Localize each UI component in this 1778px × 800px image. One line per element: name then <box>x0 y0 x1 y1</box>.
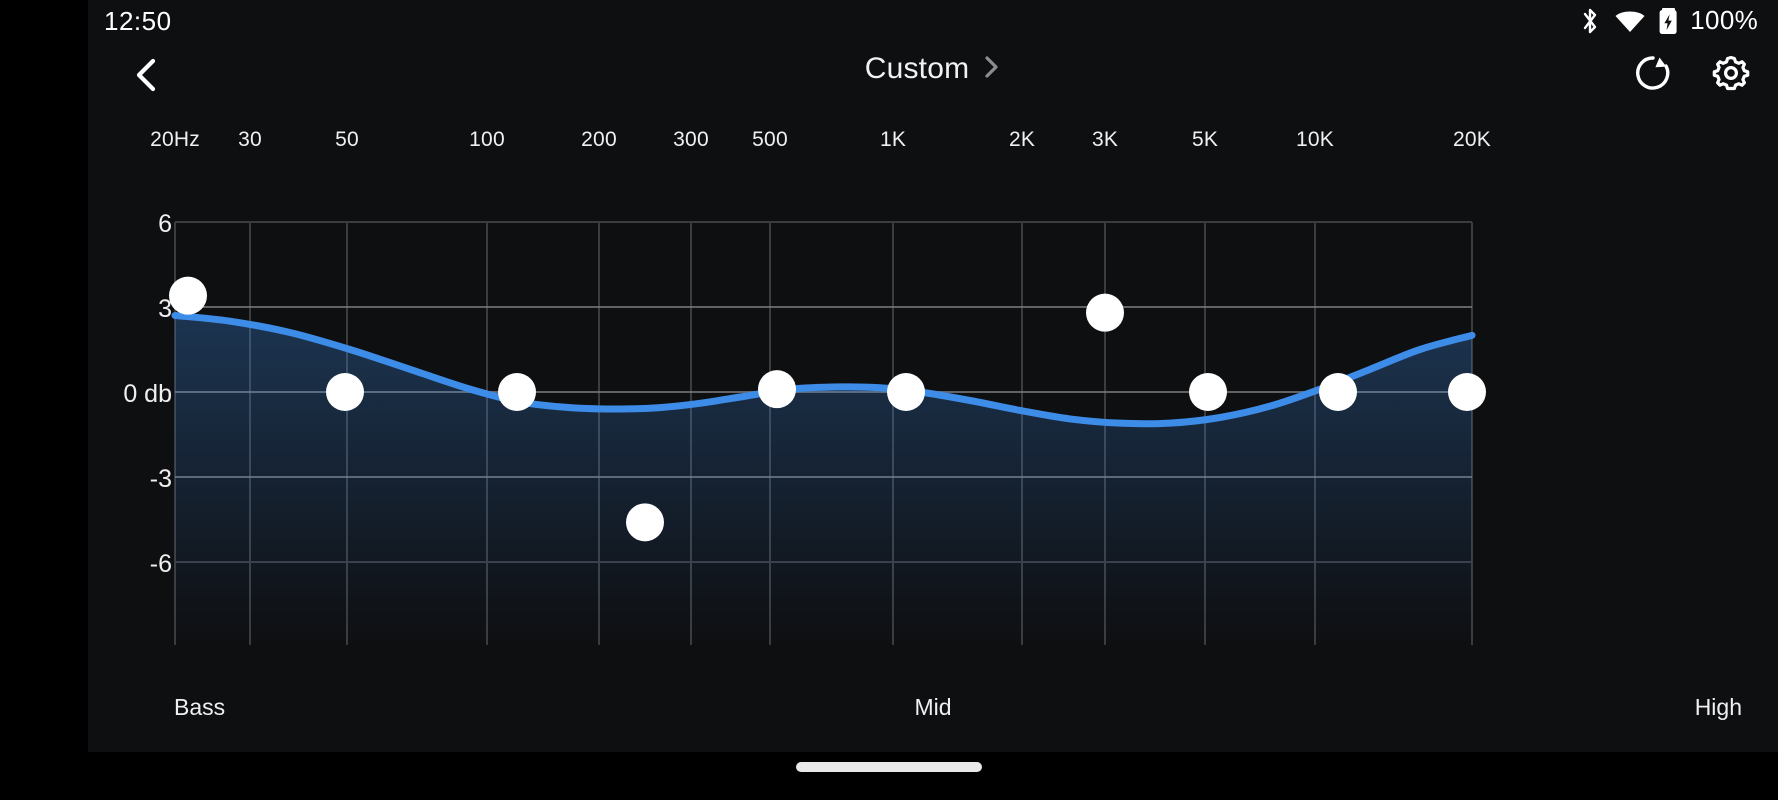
gain-tick-2: 0 db <box>123 380 172 408</box>
status-time: 12:50 <box>104 6 172 37</box>
nav-actions <box>1630 50 1754 96</box>
battery-percent: 100% <box>1690 5 1758 36</box>
home-indicator[interactable] <box>796 762 982 772</box>
eq-node-3k[interactable] <box>1086 294 1124 332</box>
eq-node-500[interactable] <box>758 370 796 408</box>
reset-button[interactable] <box>1630 50 1676 96</box>
screen-root: 12:50 <box>0 0 1778 800</box>
gain-tick-3: -3 <box>150 465 172 493</box>
band-label-mid: Mid <box>914 694 951 721</box>
eq-node-20hz[interactable] <box>169 277 207 315</box>
gain-tick-4: -6 <box>150 550 172 578</box>
equalizer-plot[interactable]: 630 db-3-6 <box>88 106 1778 752</box>
equalizer: 20Hz30501002003005001K2K3K5K10K20K 630 d… <box>88 106 1778 752</box>
chevron-right-icon <box>983 53 1001 86</box>
preset-selector[interactable]: Custom <box>88 52 1778 86</box>
band-label-bass: Bass <box>174 694 225 721</box>
app-panel: 12:50 <box>88 0 1778 752</box>
settings-button[interactable] <box>1708 50 1754 96</box>
status-bar: 12:50 <box>88 0 1778 44</box>
bluetooth-icon <box>1578 6 1602 36</box>
band-label-high: High <box>1695 694 1742 721</box>
nav-bar: Custom <box>88 44 1778 106</box>
battery-charging-icon <box>1658 6 1678 36</box>
gain-axis: 630 db-3-6 <box>123 210 172 578</box>
gear-icon <box>1708 50 1754 96</box>
band-axis: Bass Mid High <box>88 694 1778 724</box>
eq-node-1k[interactable] <box>887 373 925 411</box>
wifi-icon <box>1614 6 1646 36</box>
eq-node-10k[interactable] <box>1319 373 1357 411</box>
gain-tick-0: 6 <box>158 210 172 238</box>
reset-icon <box>1630 50 1676 96</box>
eq-node-5k[interactable] <box>1189 373 1227 411</box>
eq-node-200[interactable] <box>626 503 664 541</box>
eq-node-30[interactable] <box>326 373 364 411</box>
status-indicators: 100% <box>1578 5 1758 36</box>
eq-node-50[interactable] <box>498 373 536 411</box>
curve-area-fill <box>175 316 1472 646</box>
page-title: Custom <box>865 52 970 86</box>
eq-node-20k[interactable] <box>1448 373 1486 411</box>
